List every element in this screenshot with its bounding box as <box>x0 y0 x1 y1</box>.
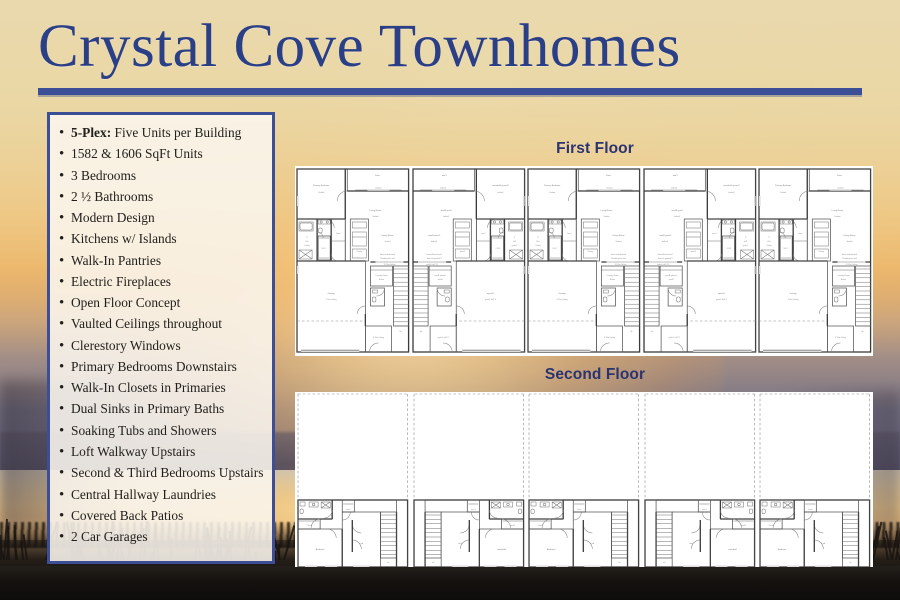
svg-text:Vaulted: Vaulted <box>671 186 677 189</box>
page-title: Crystal Cove Townhomes <box>38 16 681 77</box>
svg-text:11' Flat Ceiling: 11' Flat Ceiling <box>657 263 669 266</box>
svg-text:Ceiling: Ceiling <box>767 245 773 247</box>
feature-item: Soaking Tubs and Showers <box>56 421 266 442</box>
svg-text:11' Flat Ceiling: 11' Flat Ceiling <box>426 263 438 266</box>
svg-text:Flat: Flat <box>537 240 541 243</box>
feature-item: Loft Walkway Upstairs <box>56 442 266 463</box>
title-underline-shadow <box>38 95 862 97</box>
svg-text:8' Flat Ceiling: 8' Flat Ceiling <box>373 336 384 339</box>
svg-text:W.I.C.: W.I.C. <box>553 248 558 250</box>
svg-text:Linen: Linen <box>471 509 475 511</box>
svg-text:Up: Up <box>651 331 653 333</box>
svg-text:8' Flat Ceiling: 8' Flat Ceiling <box>669 336 680 339</box>
svg-text:Pantry: Pantry <box>459 250 464 253</box>
svg-text:W.I.C.: W.I.C. <box>784 248 789 250</box>
svg-text:Garage: Garage <box>790 292 798 295</box>
svg-text:Up: Up <box>631 331 633 333</box>
svg-text:Patio: Patio <box>672 174 678 177</box>
floorplan-unit: Closet Bedroom Loft Linen Dn <box>642 392 758 567</box>
svg-text:Bedroom: Bedroom <box>547 548 556 551</box>
svg-text:Primary Bedroom: Primary Bedroom <box>723 184 740 187</box>
svg-text:W.I.C.: W.I.C. <box>494 248 499 250</box>
svg-text:Flat: Flat <box>768 240 772 243</box>
svg-text:Primary Bedroom: Primary Bedroom <box>313 184 330 187</box>
svg-text:Vaulted: Vaulted <box>607 186 613 189</box>
svg-text:Dn: Dn <box>619 562 621 564</box>
feature-item: Covered Back Patios <box>56 506 266 527</box>
svg-text:W.I.C.: W.I.C. <box>322 248 327 250</box>
svg-text:9' Flat Ceiling: 9' Flat Ceiling <box>716 298 727 301</box>
svg-text:Stack-and-Stacked: Stack-and-Stacked <box>657 253 672 256</box>
svg-text:Patio: Patio <box>606 174 612 177</box>
svg-text:Pantry: Pantry <box>588 250 593 253</box>
svg-text:Laundry Room: Laundry Room <box>376 275 388 277</box>
svg-text:Garage: Garage <box>559 292 567 295</box>
features-list: 5-Plex: Five Units per Building1582 & 16… <box>56 123 266 548</box>
svg-text:Vaulted: Vaulted <box>835 215 841 218</box>
svg-text:Vaulted: Vaulted <box>847 240 853 243</box>
svg-text:Flat: Flat <box>306 240 310 243</box>
svg-text:Ceiling: Ceiling <box>743 245 749 247</box>
svg-text:Linen: Linen <box>798 233 802 235</box>
svg-text:9': 9' <box>306 237 308 239</box>
svg-text:Living Room: Living Room <box>601 210 613 212</box>
svg-text:Vaulted: Vaulted <box>372 215 378 218</box>
svg-text:Dining Room: Dining Room <box>613 235 625 237</box>
svg-text:Vaulted: Vaulted <box>497 191 503 194</box>
feature-item-lead: 5-Plex: <box>71 125 111 140</box>
svg-text:Living Room: Living Room <box>370 210 382 212</box>
floorplan-unit: Patio Vaulted Primary Bedroom Vaulted Li… <box>642 166 758 356</box>
svg-text:Plumbing this wall: Plumbing this wall <box>380 257 395 260</box>
svg-text:Plumbing this wall: Plumbing this wall <box>611 257 626 260</box>
svg-text:9': 9' <box>769 237 771 239</box>
svg-text:8' Flat Ceiling: 8' Flat Ceiling <box>604 336 615 339</box>
svg-text:Stack-and-Stacked: Stack-and-Stacked <box>842 253 857 256</box>
feature-item: Electric Fireplaces <box>56 272 266 293</box>
svg-text:11' Flat Ceiling: 11' Flat Ceiling <box>384 263 396 266</box>
svg-text:Vaulted: Vaulted <box>616 240 622 243</box>
floorplan-unit: Closet Bedroom Loft Linen Dn <box>295 392 411 567</box>
svg-text:Vaulted: Vaulted <box>431 240 437 243</box>
svg-text:Vaulted: Vaulted <box>674 215 680 218</box>
svg-text:9': 9' <box>513 237 515 239</box>
title-underline <box>38 88 862 95</box>
svg-text:Room: Room <box>610 279 615 281</box>
svg-text:Plumbing this wall: Plumbing this wall <box>657 257 672 260</box>
svg-text:Vaulted: Vaulted <box>318 191 324 194</box>
svg-text:Stack-and-Stacked: Stack-and-Stacked <box>426 253 441 256</box>
svg-text:11' Flat Ceiling: 11' Flat Ceiling <box>615 263 627 266</box>
svg-text:Garage: Garage <box>717 292 725 295</box>
feature-item: 2 Car Garages <box>56 527 266 548</box>
feature-item: Open Floor Concept <box>56 293 266 314</box>
svg-text:Stack-and-Stacked: Stack-and-Stacked <box>611 253 626 256</box>
feature-item: Modern Design <box>56 208 266 229</box>
svg-text:Ceiling: Ceiling <box>304 245 310 247</box>
svg-text:Bedroom: Bedroom <box>778 548 787 551</box>
svg-text:Pantry: Pantry <box>690 250 695 253</box>
svg-text:Dn: Dn <box>850 562 852 564</box>
svg-text:Vaulted: Vaulted <box>384 240 390 243</box>
svg-text:Flat: Flat <box>512 240 516 243</box>
feature-item: Dual Sinks in Primary Baths <box>56 399 266 420</box>
svg-text:Vaulted: Vaulted <box>838 186 844 189</box>
svg-text:Dining Room: Dining Room <box>381 235 393 237</box>
feature-item: Kitchens w/ Islands <box>56 229 266 250</box>
svg-text:Dining Room: Dining Room <box>427 235 439 237</box>
svg-text:Dining Room: Dining Room <box>659 235 671 237</box>
svg-text:Room: Room <box>437 279 442 281</box>
svg-text:Linen: Linen <box>346 509 350 511</box>
svg-text:Bedroom: Bedroom <box>316 548 325 551</box>
svg-text:Plumbing this wall: Plumbing this wall <box>426 257 441 260</box>
svg-text:Dn: Dn <box>387 562 389 564</box>
svg-text:Primary Bedroom: Primary Bedroom <box>775 184 792 187</box>
svg-text:Dining Room: Dining Room <box>844 235 856 237</box>
second-floor-label: Second Floor <box>0 366 900 384</box>
floorplan-unit: Patio Vaulted Primary Bedroom Vaulted Li… <box>526 166 642 356</box>
svg-text:W.I.C.: W.I.C. <box>725 248 730 250</box>
svg-text:Bedroom: Bedroom <box>728 548 737 551</box>
svg-text:Dn: Dn <box>432 562 434 564</box>
svg-text:Vaulted: Vaulted <box>781 191 787 194</box>
svg-text:Linen: Linen <box>712 233 716 235</box>
svg-text:Linen: Linen <box>702 509 706 511</box>
svg-text:Living Room: Living Room <box>832 210 844 212</box>
svg-text:Pantry: Pantry <box>819 250 824 253</box>
svg-text:Laundry Room: Laundry Room <box>607 275 619 277</box>
svg-text:Vaulted: Vaulted <box>728 191 734 194</box>
svg-text:Primary Bedroom: Primary Bedroom <box>544 184 561 187</box>
svg-text:Room: Room <box>841 279 846 281</box>
svg-text:9': 9' <box>538 237 540 239</box>
svg-text:Laundry Room: Laundry Room <box>665 275 677 277</box>
svg-text:9' Flat Ceiling: 9' Flat Ceiling <box>557 298 568 301</box>
feature-item: 2 ½ Bathrooms <box>56 187 266 208</box>
svg-text:Room: Room <box>379 279 384 281</box>
svg-text:Garage: Garage <box>486 292 494 295</box>
floorplan-unit: Patio Vaulted Primary Bedroom Vaulted Li… <box>411 166 527 356</box>
feature-item: Second & Third Bedrooms Upstairs <box>56 463 266 484</box>
svg-text:Living Room: Living Room <box>440 210 452 212</box>
svg-text:Laundry Room: Laundry Room <box>838 275 850 277</box>
svg-text:Stack-and-Stacked: Stack-and-Stacked <box>380 253 395 256</box>
feature-item: Walk-In Pantries <box>56 251 266 272</box>
svg-text:Room: Room <box>668 279 673 281</box>
page-header: Crystal Cove Townhomes <box>0 0 900 100</box>
svg-text:Living Room: Living Room <box>671 210 683 212</box>
svg-text:Primary Bedroom: Primary Bedroom <box>492 184 509 187</box>
svg-text:8' Flat Ceiling: 8' Flat Ceiling <box>437 336 448 339</box>
svg-text:Plumbing this wall: Plumbing this wall <box>843 257 858 260</box>
svg-text:9': 9' <box>744 237 746 239</box>
floorplan-unit: Closet Bedroom Loft Linen Dn <box>526 392 642 567</box>
svg-text:Ceiling: Ceiling <box>535 245 541 247</box>
svg-text:Bedroom: Bedroom <box>497 548 506 551</box>
svg-text:Linen: Linen <box>481 233 485 235</box>
svg-text:Vaulted: Vaulted <box>440 186 446 189</box>
features-panel: 5-Plex: Five Units per Building1582 & 16… <box>47 112 275 564</box>
svg-text:8' Flat Ceiling: 8' Flat Ceiling <box>835 336 846 339</box>
floorplan-unit: Closet Bedroom Loft Linen Dn <box>411 392 527 567</box>
svg-text:Vaulted: Vaulted <box>662 240 668 243</box>
svg-text:Up: Up <box>399 331 401 333</box>
first-floor-plan: Patio Vaulted Primary Bedroom Vaulted Li… <box>295 166 873 356</box>
svg-text:Vaulted: Vaulted <box>375 186 381 189</box>
second-floor-plan: Closet Bedroom Loft Linen Dn <box>295 392 873 567</box>
svg-text:9' Flat Ceiling: 9' Flat Ceiling <box>788 298 799 301</box>
svg-text:Vaulted: Vaulted <box>604 215 610 218</box>
feature-item: Vaulted Ceilings throughout <box>56 314 266 335</box>
svg-text:Patio: Patio <box>837 174 843 177</box>
floorplan-unit: Closet Bedroom Loft Linen Dn <box>757 392 873 567</box>
floorplan-unit: Patio Vaulted Primary Bedroom Vaulted Li… <box>757 166 873 356</box>
svg-text:Up: Up <box>419 331 421 333</box>
floorplan-unit: Patio Vaulted Primary Bedroom Vaulted Li… <box>295 166 411 356</box>
feature-item: 3 Bedrooms <box>56 166 266 187</box>
svg-text:9' Flat Ceiling: 9' Flat Ceiling <box>485 298 496 301</box>
svg-text:Linen: Linen <box>336 233 340 235</box>
svg-text:Linen: Linen <box>577 509 581 511</box>
svg-text:Linen: Linen <box>567 233 571 235</box>
svg-text:Garage: Garage <box>328 292 336 295</box>
feature-item: Central Hallway Laundries <box>56 485 266 506</box>
svg-text:Flat: Flat <box>743 240 747 243</box>
svg-text:Laundry Room: Laundry Room <box>433 275 445 277</box>
svg-text:Pantry: Pantry <box>357 250 362 253</box>
first-floor-label: First Floor <box>0 140 900 158</box>
feature-item: Clerestory Windows <box>56 336 266 357</box>
svg-text:9' Flat Ceiling: 9' Flat Ceiling <box>326 298 337 301</box>
svg-text:Ceiling: Ceiling <box>511 245 517 247</box>
svg-text:11' Flat Ceiling: 11' Flat Ceiling <box>846 263 858 266</box>
svg-text:Patio: Patio <box>441 174 447 177</box>
svg-text:Up: Up <box>862 331 864 333</box>
svg-text:Vaulted: Vaulted <box>443 215 449 218</box>
svg-text:Patio: Patio <box>375 174 381 177</box>
svg-text:Linen: Linen <box>808 509 812 511</box>
svg-text:Dn: Dn <box>663 562 665 564</box>
svg-text:Vaulted: Vaulted <box>549 191 555 194</box>
